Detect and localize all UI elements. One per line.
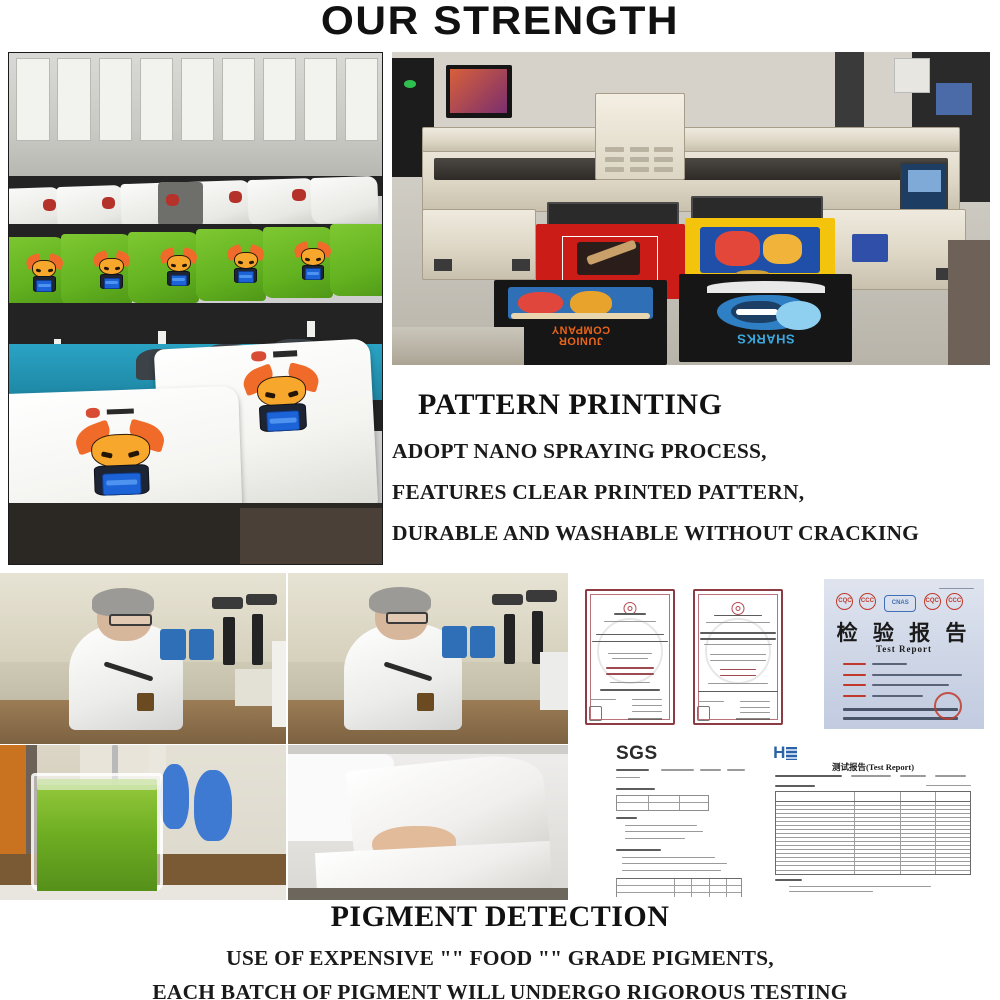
photo-fabric-handling xyxy=(288,745,568,900)
pattern-printing-heading: PATTERN PRINTING xyxy=(418,388,992,422)
document-sgs-test-report: SGS xyxy=(604,737,754,897)
print-head-carriage xyxy=(595,93,685,181)
pattern-printing-line-2: FEATURES CLEAR PRINTED PATTERN, xyxy=(392,480,992,505)
pigment-detection-heading: PIGMENT DETECTION xyxy=(0,900,1000,934)
sgs-results-table xyxy=(616,878,742,897)
section-pigment-detection: PIGMENT DETECTION USE OF EXPENSIVE "" FO… xyxy=(0,900,1000,1000)
sgs-logo: SGS xyxy=(616,743,658,765)
pigment-detection-line-1: USE OF EXPENSIVE "" FOOD "" GRADE PIGMEN… xyxy=(0,946,1000,971)
pattern-printing-line-3: DURABLE AND WASHABLE WITHOUT CRACKING xyxy=(392,521,992,546)
photo-screen-printing-carousel xyxy=(8,52,383,565)
document-iso-certificate-chinese xyxy=(580,584,680,730)
safety-glasses xyxy=(386,612,428,624)
bull-mascot-print xyxy=(95,252,129,290)
document-inspection-test-report: CQC CCC CNAS CQC CCC 检 验 报 告 Test Report xyxy=(824,579,984,729)
pattern-printing-line-1: ADOPT NANO SPRAYING PROCESS, xyxy=(392,439,992,464)
bull-mascot-print xyxy=(296,243,330,281)
bull-mascot-print xyxy=(28,255,62,293)
document-iso-certificate-english xyxy=(688,584,788,730)
photo-lab-technician-right xyxy=(288,573,568,744)
technician-hair xyxy=(92,588,155,615)
green-pigment-liquid xyxy=(37,785,157,890)
test-report-title-en: Test Report xyxy=(824,644,984,654)
photo-green-pigment-beaker xyxy=(0,745,286,900)
document-h-test-report: H 测试报告(Test Report) xyxy=(762,737,984,897)
bull-mascot-print xyxy=(229,246,263,284)
certification-seals: CQC CCC CNAS CQC CCC xyxy=(834,593,975,613)
h-report-results-table xyxy=(775,791,970,874)
test-report-title-cn: 检 验 报 告 xyxy=(824,617,984,647)
red-seal-stamp xyxy=(934,692,962,720)
page-title: OUR STRENGTH xyxy=(0,0,1000,42)
bull-mascot-print xyxy=(162,249,196,287)
infographic-page: OUR STRENGTH xyxy=(0,0,1000,1000)
photo-flatbed-printer: JUNIORCOMPANY SHARKS xyxy=(392,52,990,365)
pigment-detection-line-2: EACH BATCH OF PIGMENT WILL UNDERGO RIGOR… xyxy=(0,980,1000,1000)
safety-glasses xyxy=(109,614,152,626)
technician-hair xyxy=(369,587,431,614)
h-report-title: 测试报告(Test Report) xyxy=(762,761,984,773)
garment-sharks: SHARKS xyxy=(679,274,852,362)
printer-monitor xyxy=(446,65,512,118)
photo-lab-technician-left xyxy=(0,573,286,744)
workshop-wall xyxy=(9,53,382,186)
section-pattern-printing: PATTERN PRINTING ADOPT NANO SPRAYING PRO… xyxy=(392,388,992,546)
garment-text-sharks: SHARKS xyxy=(679,332,852,345)
